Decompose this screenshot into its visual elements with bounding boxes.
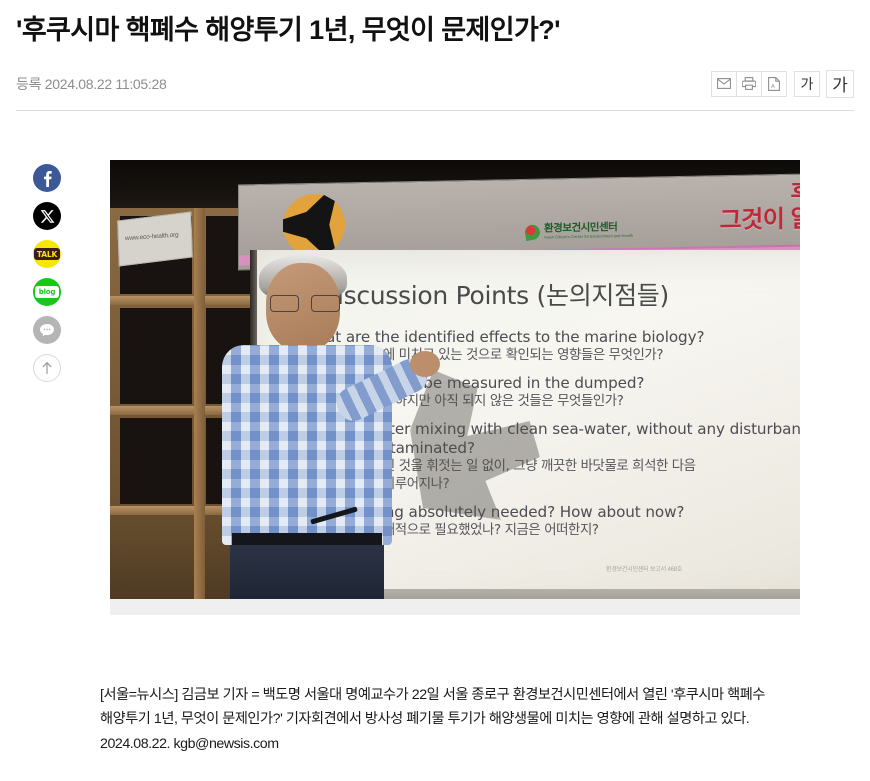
- radiation-symbol-icon: [283, 193, 345, 256]
- header-divider: [16, 110, 854, 111]
- article-photo: www.eco-health.org 환경보건시민센터 Asian Citize…: [110, 160, 800, 615]
- print-button[interactable]: [736, 71, 762, 97]
- slide-footnote: 환경보건시민센터 보고서 468호: [606, 564, 682, 573]
- article-header: '후쿠시마 핵폐수 해양투기 1년, 무엇이 문제인가?' 등록 2024.08…: [0, 0, 870, 110]
- naver-blog-label: blog: [35, 286, 58, 298]
- banner-headline: 후쿠시마, 그것이 알고 싶다: [720, 179, 800, 234]
- article-toolbar: A 가 가: [712, 70, 854, 98]
- font-size-large-button[interactable]: 가: [826, 70, 854, 98]
- photo-caption: [서울=뉴시스] 김금보 기자 = 백도명 서울대 명예교수가 22일 서울 종…: [100, 683, 812, 756]
- envelope-icon: [717, 78, 731, 89]
- naver-blog-share-icon[interactable]: blog: [33, 278, 61, 306]
- org-mark-icon: [524, 223, 541, 241]
- wall-sign-text: www.eco-health.org: [125, 232, 179, 243]
- speaker-shirt: [222, 345, 392, 545]
- banner-headline-line2: 그것이 알고 싶다: [720, 205, 800, 234]
- wall-url-sign: www.eco-health.org: [117, 212, 193, 267]
- photo-floor: [110, 599, 800, 615]
- font-size-small-button[interactable]: 가: [794, 71, 820, 97]
- org-name-en: Asian Citizen's Center for Environment a…: [544, 233, 633, 240]
- publish-date: 등록 2024.08.22 11:05:28: [16, 74, 166, 94]
- speaker-figure: [214, 255, 404, 615]
- kakaotalk-share-icon[interactable]: TALK: [33, 240, 61, 268]
- comment-icon[interactable]: [33, 316, 61, 344]
- x-twitter-share-icon[interactable]: [33, 202, 61, 230]
- facebook-share-icon[interactable]: [33, 164, 61, 192]
- scroll-to-top-button[interactable]: [33, 354, 61, 382]
- article-meta-row: 등록 2024.08.22 11:05:28: [16, 70, 854, 110]
- kakaotalk-label: TALK: [34, 248, 60, 260]
- email-button[interactable]: [711, 71, 737, 97]
- banner-headline-line1: 후쿠시마,: [720, 179, 800, 208]
- pdf-icon: A: [768, 77, 780, 91]
- social-share-rail: TALK blog: [33, 164, 61, 382]
- speaker-hand: [410, 351, 440, 377]
- pdf-button[interactable]: A: [761, 71, 787, 97]
- page-title: '후쿠시마 핵폐수 해양투기 1년, 무엇이 문제인가?': [16, 14, 854, 48]
- organization-logo: 환경보건시민센터 Asian Citizen's Center for Envi…: [525, 222, 633, 240]
- printer-icon: [742, 77, 756, 90]
- share-button-group: A: [712, 71, 787, 97]
- svg-text:A: A: [771, 84, 775, 90]
- speaker-glasses: [270, 295, 340, 310]
